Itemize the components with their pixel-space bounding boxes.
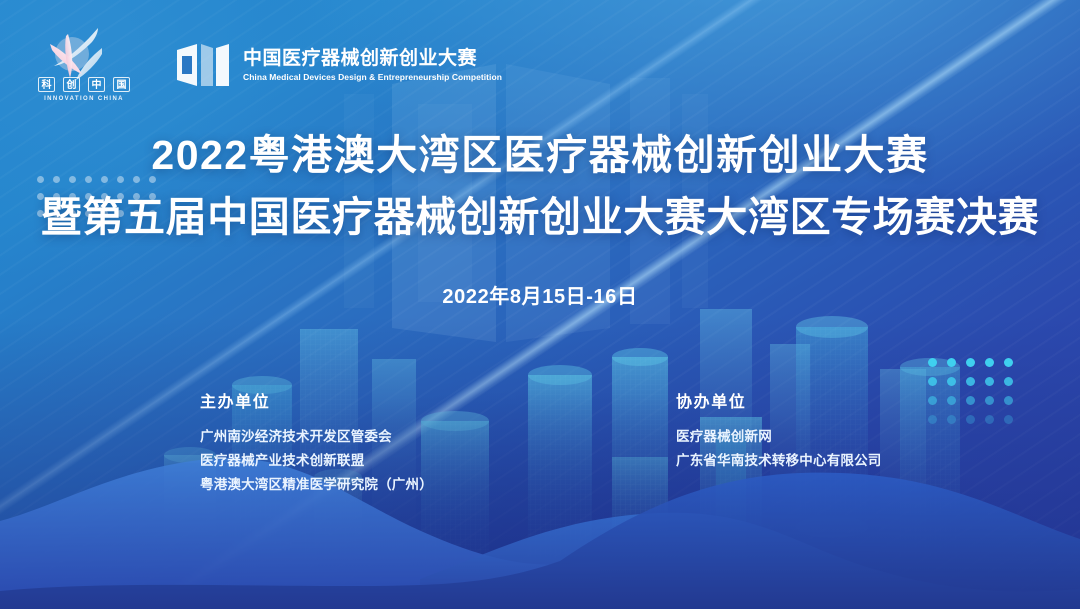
- cohost-organizer-heading: 协办单位: [676, 388, 882, 412]
- host-organizer-item: 广州南沙经济技术开发区管委会: [200, 425, 433, 449]
- poster-canvas: 科 创 中 国 INNOVATION CHINA: [0, 0, 1080, 609]
- host-organizer-item: 医疗器械产业技术创新联盟: [200, 449, 433, 473]
- cohost-organizer-item: 广东省华南技术转移中心有限公司: [676, 449, 882, 473]
- innovation-china-en-text: INNOVATION CHINA: [38, 96, 130, 102]
- competition-logo: 中国医疗器械创新创业大赛 China Medical Devices Desig…: [175, 40, 502, 90]
- title-block: 2022粤港澳大湾区医疗器械创新创业大赛 暨第五届中国医疗器械创新创业大赛大湾区…: [0, 128, 1080, 309]
- dot-grid-right: [928, 358, 1023, 434]
- competition-logo-en: China Medical Devices Design & Entrepren…: [243, 72, 502, 82]
- cohost-organizer-item: 医疗器械创新网: [676, 425, 882, 449]
- innovation-china-logo: 科 创 中 国 INNOVATION CHINA: [38, 26, 130, 104]
- bottom-wave-hills: [0, 429, 1080, 609]
- event-date: 2022年8月15日-16日: [0, 280, 1080, 309]
- innovation-china-bird-icon: [42, 26, 114, 84]
- host-organizer-block: 主办单位 广州南沙经济技术开发区管委会 医疗器械产业技术创新联盟 粤港澳大湾区精…: [200, 388, 433, 497]
- innovation-china-cn-chars: 科 创 中 国: [38, 77, 130, 92]
- cmdc-door-icon: [175, 40, 231, 90]
- host-organizer-heading: 主办单位: [200, 388, 433, 412]
- host-organizer-item: 粤港澳大湾区精准医学研究院（广州）: [200, 473, 433, 497]
- main-title-line2: 暨第五届中国医疗器械创新创业大赛大湾区专场赛决赛: [0, 190, 1080, 244]
- cohost-organizer-block: 协办单位 医疗器械创新网 广东省华南技术转移中心有限公司: [676, 388, 882, 473]
- competition-logo-cn: 中国医疗器械创新创业大赛: [243, 48, 502, 70]
- main-title-line1: 2022粤港澳大湾区医疗器械创新创业大赛: [0, 128, 1080, 182]
- header-logos: 科 创 中 国 INNOVATION CHINA: [38, 26, 502, 104]
